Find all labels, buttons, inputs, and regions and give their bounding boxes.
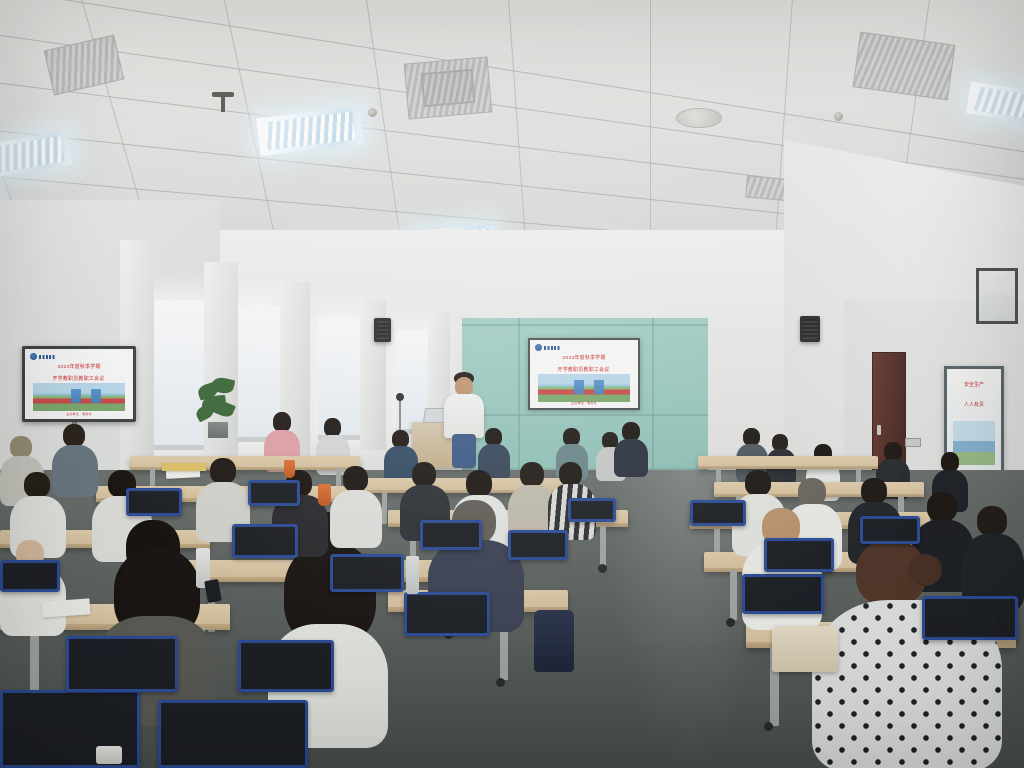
desk	[698, 456, 878, 469]
chair[interactable]	[126, 488, 182, 516]
handbag[interactable]	[772, 626, 838, 672]
slide-footer: 主办单位 · 教务处	[25, 412, 133, 416]
chair[interactable]	[508, 530, 568, 560]
attendee-foreground-right	[812, 540, 1002, 768]
chair[interactable]	[158, 700, 308, 768]
desk-leg	[600, 526, 606, 566]
chair[interactable]	[420, 520, 482, 550]
wall-speaker-icon	[800, 316, 820, 342]
attendee	[330, 466, 382, 548]
cup[interactable]	[284, 460, 295, 478]
chair[interactable]	[860, 516, 920, 544]
slide-title-line1: 2023年度秋季学期	[57, 363, 100, 370]
chair[interactable]	[922, 596, 1018, 640]
sprinkler-head-icon	[834, 112, 843, 121]
potted-plant	[196, 376, 240, 438]
desk-caster	[764, 722, 773, 731]
slide-campus-photo	[33, 383, 125, 411]
slide-title-line2: 开学教职员教职工会议	[558, 366, 610, 373]
backpack[interactable]	[534, 610, 574, 672]
ceiling-speaker-icon	[676, 108, 722, 128]
institution-logo-icon	[30, 353, 55, 360]
chair[interactable]	[0, 560, 60, 592]
paper-handout[interactable]	[42, 598, 91, 617]
chair[interactable]	[764, 538, 834, 572]
desk-caster	[726, 618, 735, 627]
chair[interactable]	[248, 480, 300, 506]
desk-leg	[730, 570, 737, 620]
chair[interactable]	[232, 524, 298, 558]
classroom-scene: 2023年度秋季学期 开学教职员教职工会议 主办单位 · 教务处 2023年度秋…	[0, 0, 1024, 768]
chair[interactable]	[568, 498, 616, 522]
side-wall-display[interactable]: 2023年度秋季学期 开学教职员教职工会议 主办单位 · 教务处	[22, 346, 136, 422]
slide-title-line1: 2023年度秋季学期	[562, 354, 605, 361]
poster-title-line1: 安全生产	[947, 381, 1001, 389]
chair[interactable]	[742, 574, 824, 614]
paper-handout[interactable]	[162, 463, 206, 471]
slide-footer: 主办单位 · 教务处	[530, 401, 638, 405]
slide-campus-photo	[538, 374, 630, 402]
presentation-slide: 2023年度秋季学期 开学教职员教职工会议 主办单位 · 教务处	[530, 340, 638, 408]
presentation-slide-duplicate: 2023年度秋季学期 开学教职员教职工会议 主办单位 · 教务处	[25, 349, 133, 419]
chair[interactable]	[238, 640, 334, 692]
slide-title-line2: 开学教职员教职工会议	[53, 375, 105, 382]
poster-title-line2: 人人有责	[947, 401, 1001, 409]
institution-logo-icon	[535, 344, 560, 351]
air-diffuser	[404, 56, 493, 119]
chair[interactable]	[404, 592, 490, 636]
cup[interactable]	[318, 484, 331, 506]
chair[interactable]	[66, 636, 178, 692]
front-projection-screen[interactable]: 2023年度秋季学期 开学教职员教职工会议 主办单位 · 教务处	[528, 338, 640, 410]
attendee	[614, 422, 648, 476]
cup[interactable]	[96, 746, 122, 764]
sprinkler-head-icon	[368, 108, 377, 117]
water-bottle[interactable]	[406, 556, 419, 594]
wall-speaker-icon	[374, 318, 391, 342]
desk-caster	[598, 564, 607, 573]
chair[interactable]	[330, 554, 404, 592]
projector-mount-pole	[221, 96, 225, 112]
chair[interactable]	[690, 500, 746, 526]
desk-caster	[496, 678, 505, 687]
framed-picture	[976, 268, 1018, 324]
